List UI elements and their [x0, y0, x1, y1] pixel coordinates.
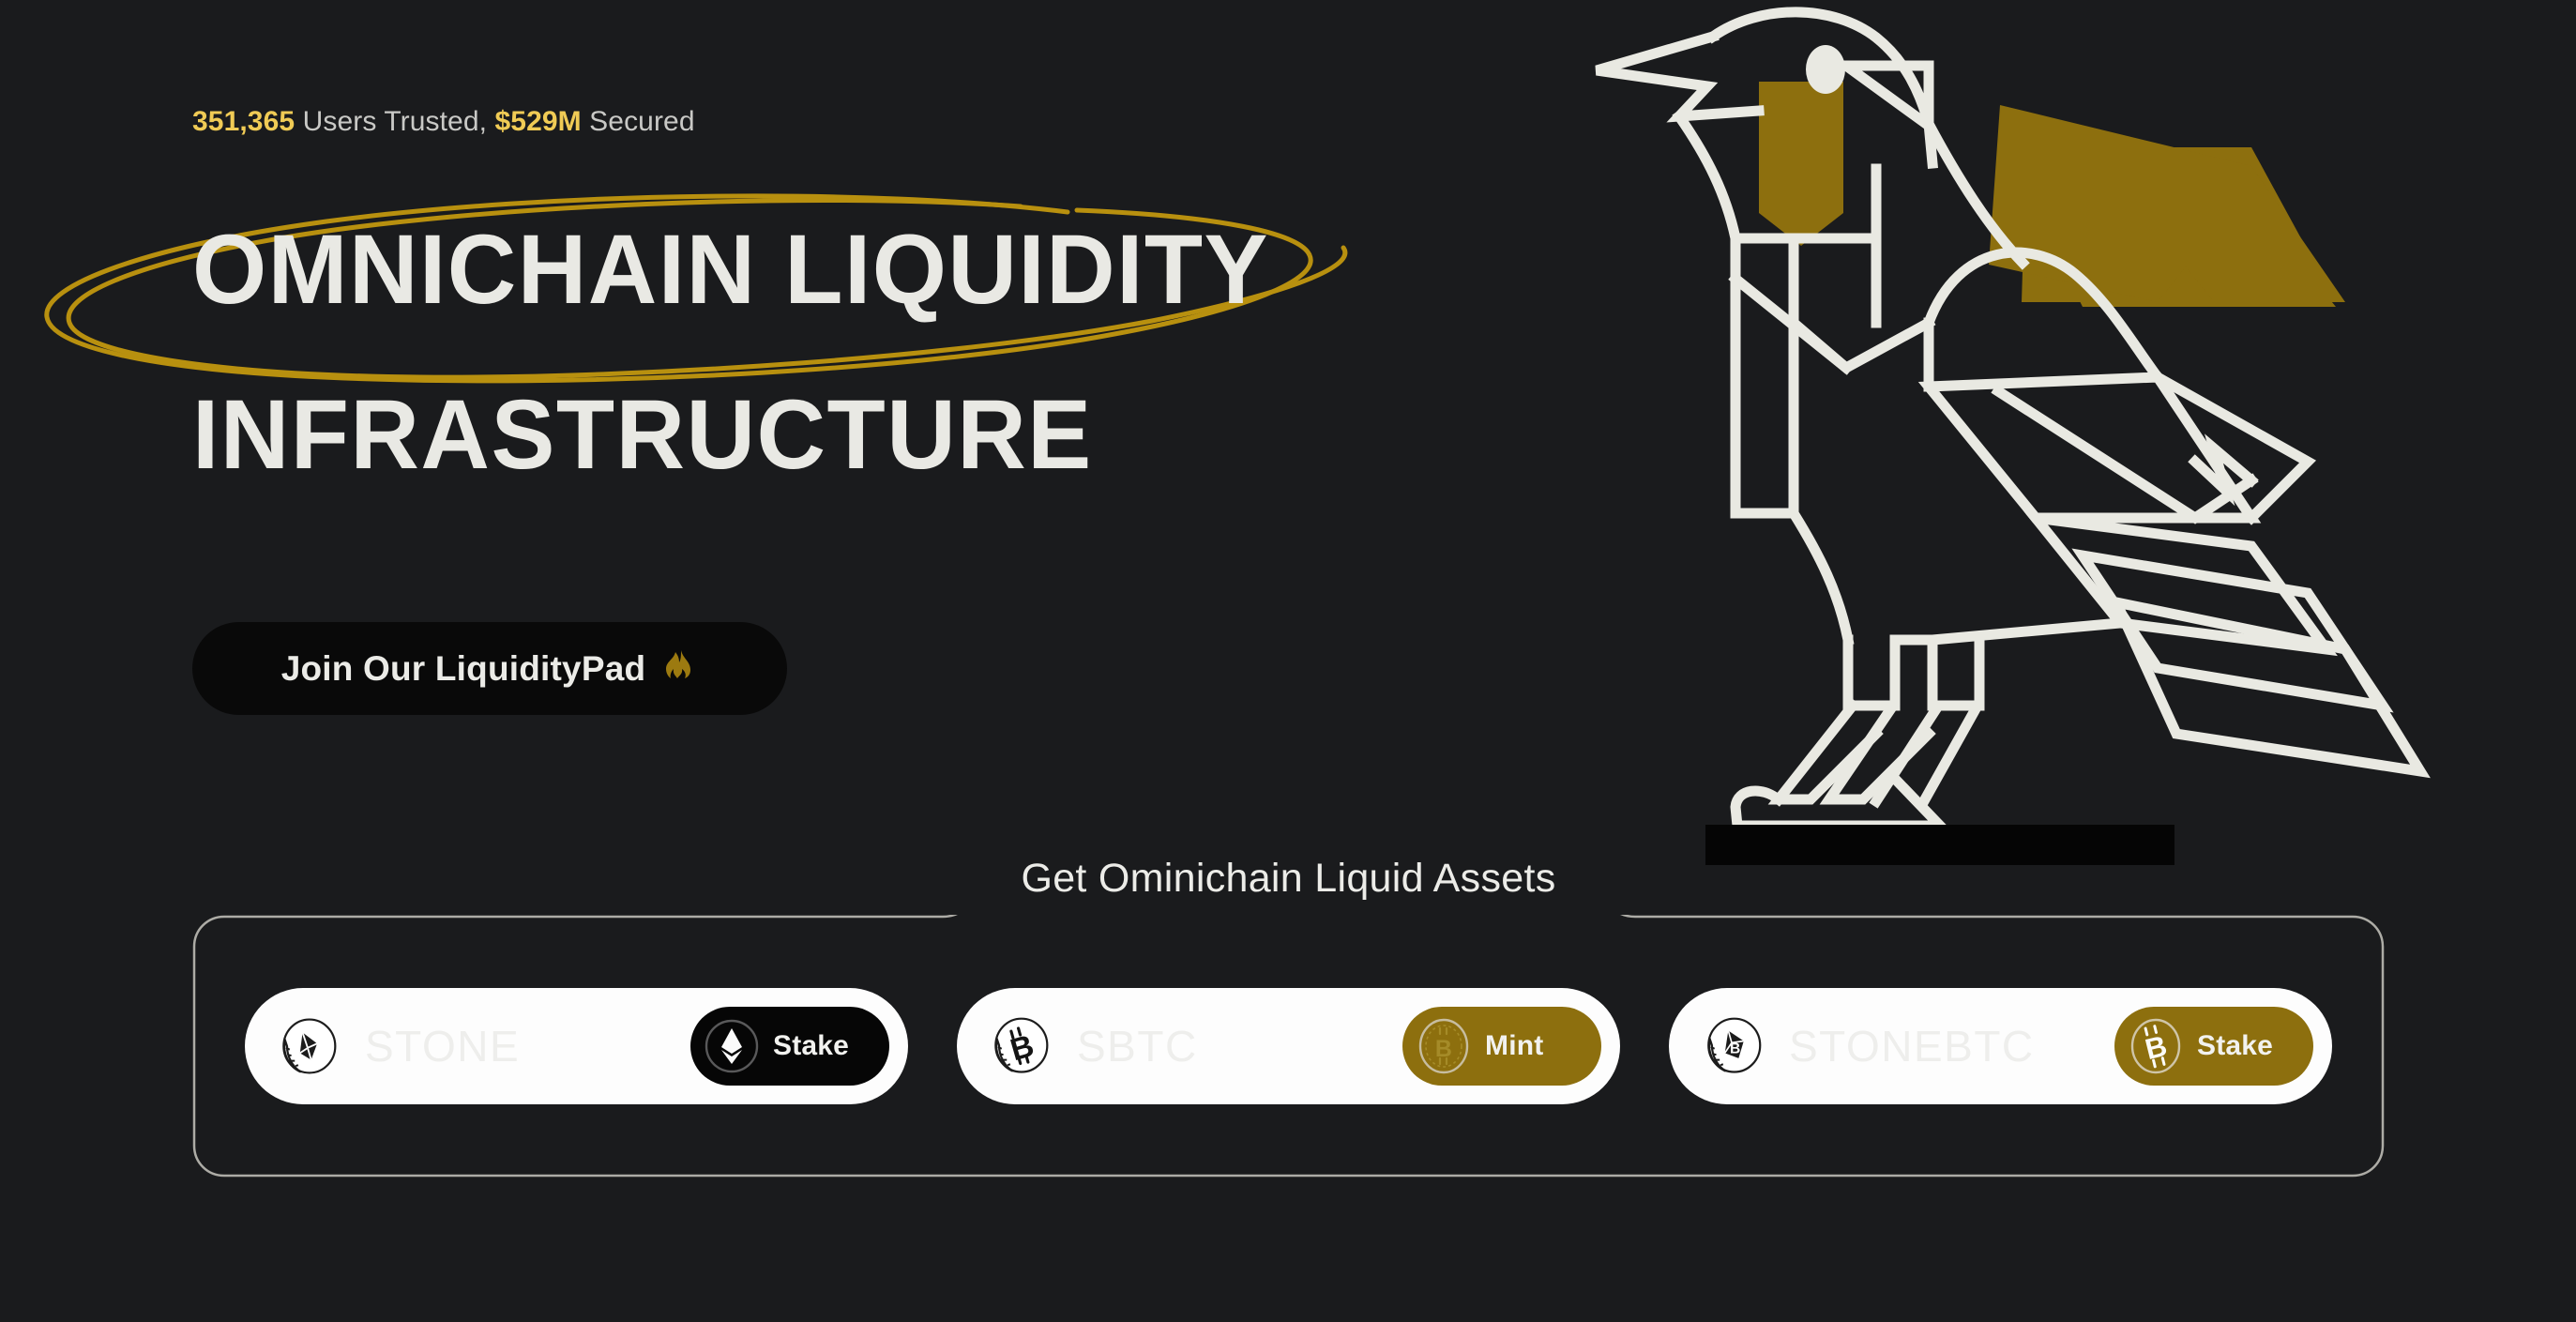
page-title: Omnichain Liquidity Infrastructure: [192, 188, 1430, 518]
bitcoin-coin-icon: B: [989, 1015, 1051, 1077]
flame-icon: [662, 649, 698, 689]
stake-button-stonebtc[interactable]: B Stake: [2114, 1007, 2313, 1086]
headline-block: Omnichain Liquidity Infrastructure: [0, 188, 1501, 544]
mint-button-sbtc[interactable]: B Mint: [1402, 1007, 1601, 1086]
panel-tab-label: Get Ominichain Liquid Assets: [1021, 856, 1555, 902]
mint-button-label: Mint: [1485, 1030, 1543, 1062]
secured-amount: $529M: [495, 106, 582, 137]
cta-label: Join Our LiquidityPad: [281, 649, 646, 689]
users-trusted-count: 351,365: [192, 106, 295, 137]
stake-button-stone[interactable]: Stake: [690, 1007, 889, 1086]
asset-card-stone[interactable]: STONE Stake: [245, 988, 908, 1104]
secured-label: Secured: [582, 106, 695, 137]
stone-coin-icon: [277, 1015, 339, 1077]
bitcoin-circle-icon: B: [1416, 1018, 1472, 1074]
asset-card-stonebtc[interactable]: B STONEBTC B Stake: [1669, 988, 2332, 1104]
raven-bird-illustration: [1595, 0, 2552, 865]
hero-section: 351,365 Users Trusted, $529M Secured Omn…: [0, 0, 2576, 1322]
ethereum-icon: [704, 1018, 760, 1074]
headline-line-2: Infrastructure: [192, 353, 1430, 518]
asset-cards-row: STONE Stake: [192, 915, 2385, 1178]
svg-text:B: B: [1435, 1036, 1452, 1062]
stake-button-label: Stake: [773, 1030, 849, 1062]
assets-panel: Get Ominichain Liquid Assets STONE: [192, 915, 2385, 1178]
users-trusted-label: Users Trusted,: [295, 106, 494, 137]
stone-bitcoin-coin-icon: B: [1701, 1015, 1763, 1077]
join-liquiditypad-button[interactable]: Join Our LiquidityPad: [192, 622, 787, 715]
asset-name-sbtc: SBTC: [1077, 1021, 1402, 1071]
headline-line-1: Omnichain Liquidity: [192, 188, 1430, 353]
asset-name-stonebtc: STONEBTC: [1789, 1021, 2114, 1071]
stats-line: 351,365 Users Trusted, $529M Secured: [192, 106, 695, 138]
asset-name-stone: STONE: [365, 1021, 690, 1071]
asset-card-sbtc[interactable]: B SBTC B Mint: [957, 988, 1620, 1104]
svg-text:B: B: [1730, 1041, 1740, 1056]
stake-button-stonebtc-label: Stake: [2197, 1030, 2273, 1062]
bitcoin-icon: B: [2128, 1018, 2184, 1074]
